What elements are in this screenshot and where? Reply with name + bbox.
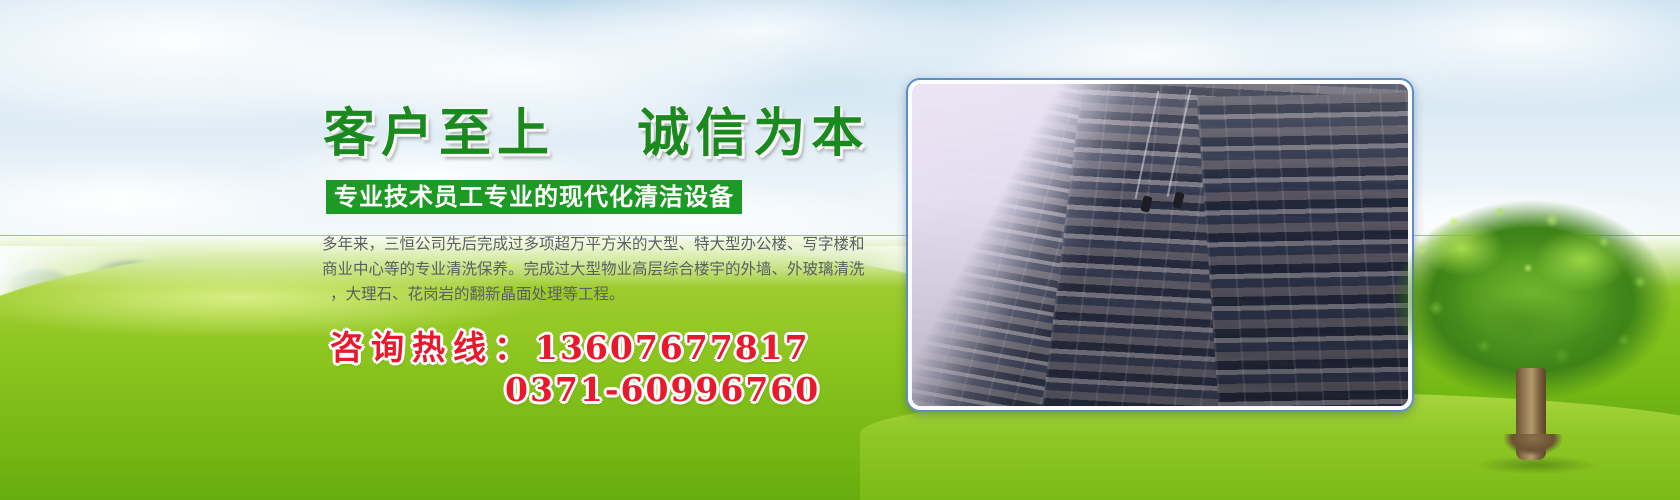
description-line-1: 多年来，三恒公司先后完成过多项超万平方米的大型、特大型办公楼、写字楼和 (322, 232, 890, 257)
promotional-banner: 客户至上 诚信为本 专业技术员工专业的现代化清洁设备 多年来，三恒公司先后完成过… (0, 0, 1680, 500)
hotline-landline-number[interactable]: 0371-60996760 (505, 370, 820, 409)
description-line-3: ，大理石、花岗岩的翻新晶面处理等工程。 (322, 282, 890, 307)
headline: 客户至上 诚信为本 (323, 104, 869, 164)
description-line-2: 商业中心等的专业清洗保养。完成过大型物业高层综合楼宇的外墙、外玻璃清洗 (322, 257, 890, 282)
headline-left: 客户至上 (323, 103, 555, 164)
tagline-text: 专业技术员工专业的现代化清洁设备 (334, 182, 734, 212)
headline-right: 诚信为本 (637, 103, 869, 164)
hotline-label: 咨询热线： (330, 328, 535, 367)
photo-frame (906, 78, 1414, 412)
hotline-secondary: 0371-60996760 (505, 368, 820, 412)
photo-vignette (912, 84, 1408, 406)
tagline-bar: 专业技术员工专业的现代化清洁设备 (326, 180, 742, 214)
tree-illustration (1392, 190, 1672, 480)
hotline-mobile-number[interactable]: 13607677817 (535, 328, 810, 367)
description-paragraph: 多年来，三恒公司先后完成过多项超万平方米的大型、特大型办公楼、写字楼和 商业中心… (322, 232, 890, 307)
hotline-primary: 咨询热线：13607677817 (330, 326, 810, 370)
high-rise-building-facade-cleaning-photo (912, 84, 1408, 406)
